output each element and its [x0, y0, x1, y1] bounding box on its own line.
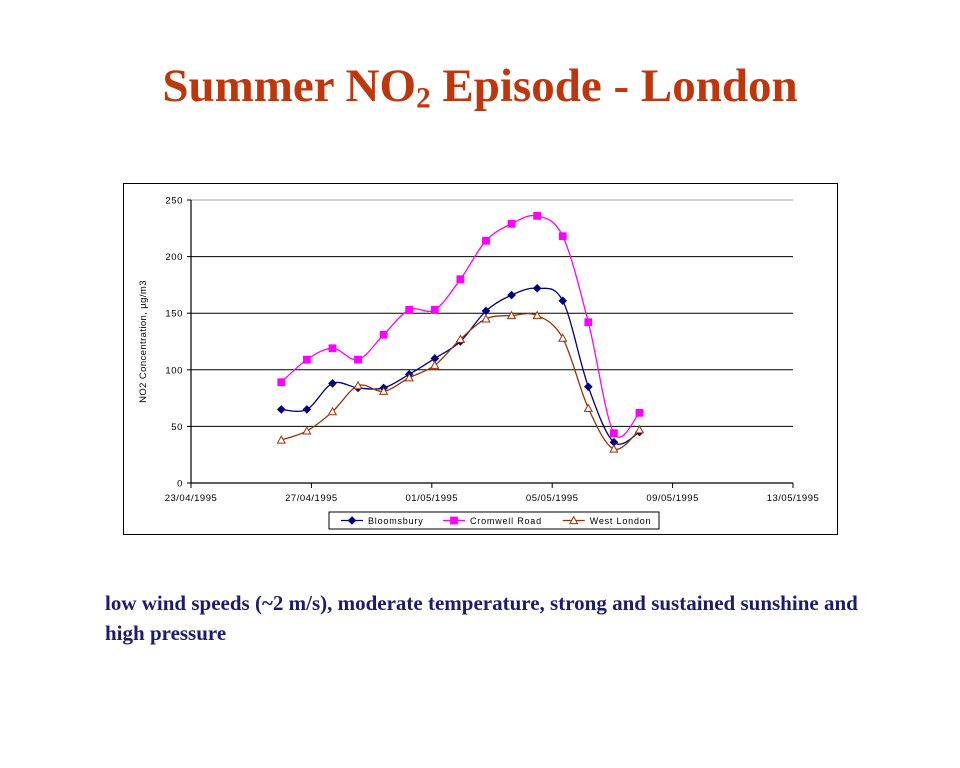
square-marker	[559, 233, 566, 240]
square-marker	[355, 356, 362, 363]
data-point-marker	[355, 356, 362, 363]
xtick-label: 23/04/1995	[165, 493, 218, 504]
xtick-label: 09/05/1995	[646, 493, 699, 504]
triangle-marker	[585, 404, 593, 411]
xtick-label: 27/04/1995	[285, 493, 338, 504]
xtick-label: 01/05/1995	[406, 493, 459, 504]
legend-label: Bloomsbury	[368, 516, 424, 526]
diamond-marker	[559, 297, 566, 304]
ytick-label: 100	[165, 365, 183, 376]
data-point-marker	[457, 276, 464, 283]
xtick-label: 13/05/1995	[767, 493, 820, 504]
ytick-label: 150	[165, 309, 183, 320]
square-marker	[303, 356, 310, 363]
ytick-label: 250	[165, 196, 183, 207]
data-point-marker	[559, 297, 566, 304]
square-marker	[483, 237, 490, 244]
square-marker	[451, 517, 458, 524]
series-cromwell-road	[278, 212, 643, 437]
triangle-marker	[610, 445, 618, 452]
data-point-marker	[585, 319, 592, 326]
triangle-marker	[482, 315, 490, 322]
data-point-marker	[278, 406, 285, 413]
chart-frame: 05010015020025023/04/199527/04/199501/05…	[123, 183, 838, 535]
ytick-label: 0	[177, 479, 183, 490]
data-point-marker	[534, 285, 541, 292]
data-point-marker	[534, 212, 541, 219]
triangle-marker	[559, 334, 567, 341]
data-point-marker	[482, 315, 490, 322]
xtick-label: 05/05/1995	[526, 493, 579, 504]
data-point-marker	[559, 233, 566, 240]
line-chart: 05010015020025023/04/199527/04/199501/05…	[124, 184, 837, 534]
data-point-marker	[431, 306, 438, 313]
diamond-marker	[585, 383, 592, 390]
chart-container: 05010015020025023/04/199527/04/199501/05…	[124, 184, 837, 534]
y-axis-title: NO2 Concentration, µg/m3	[138, 280, 149, 403]
square-marker	[278, 379, 285, 386]
diamond-marker	[329, 380, 336, 387]
page-title: Summer NO2 Episode - London	[0, 62, 960, 114]
square-marker	[457, 276, 464, 283]
data-point-marker	[406, 306, 413, 313]
square-marker	[329, 345, 336, 352]
data-point-marker	[329, 345, 336, 352]
data-point-marker	[610, 445, 618, 452]
square-marker	[431, 306, 438, 313]
ytick-label: 50	[171, 422, 183, 433]
square-marker	[534, 212, 541, 219]
data-point-marker	[303, 356, 310, 363]
slide-caption: low wind speeds (~2 m/s), moderate tempe…	[105, 588, 865, 649]
data-point-marker	[636, 409, 643, 416]
triangle-marker	[303, 427, 311, 434]
square-marker	[380, 331, 387, 338]
diamond-marker	[508, 291, 515, 298]
chart-legend: BloomsburyCromwell RoadWest London	[329, 512, 659, 529]
data-point-marker	[329, 380, 336, 387]
legend-label: Cromwell Road	[470, 516, 542, 526]
data-point-marker	[585, 383, 592, 390]
title-text-rest: Episode - London	[431, 60, 798, 112]
square-marker	[406, 306, 413, 313]
square-marker	[611, 430, 618, 437]
data-point-marker	[585, 404, 593, 411]
diamond-marker	[534, 285, 541, 292]
data-point-marker	[483, 237, 490, 244]
title-subscript: 2	[416, 82, 431, 114]
data-point-marker	[559, 334, 567, 341]
square-marker	[508, 220, 515, 227]
data-point-marker	[278, 379, 285, 386]
data-point-marker	[508, 220, 515, 227]
square-marker	[636, 409, 643, 416]
data-point-marker	[508, 291, 515, 298]
square-marker	[585, 319, 592, 326]
series-line	[281, 314, 639, 450]
series-line	[281, 215, 639, 437]
data-point-marker	[380, 331, 387, 338]
legend-label: West London	[590, 516, 652, 526]
data-point-marker	[636, 426, 644, 433]
slide-canvas: Summer NO2 Episode - London 050100150200…	[0, 0, 960, 768]
title-text-main: Summer NO	[162, 60, 416, 112]
diamond-marker	[278, 406, 285, 413]
triangle-marker	[636, 426, 644, 433]
ytick-label: 200	[165, 252, 183, 263]
data-point-marker	[611, 430, 618, 437]
data-point-marker	[451, 517, 458, 524]
series-bloomsbury	[278, 285, 643, 446]
data-point-marker	[303, 427, 311, 434]
